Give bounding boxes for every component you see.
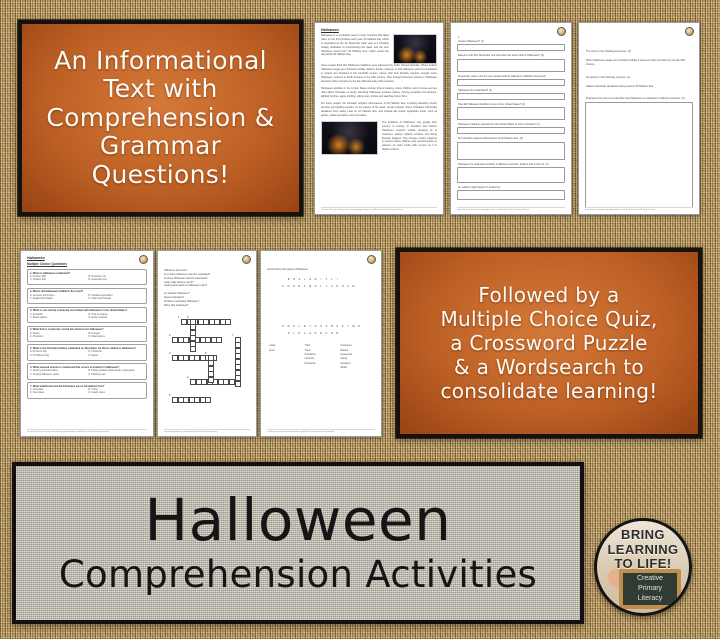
page-footer: teacherspayteachers.com/Store/Creative-P… xyxy=(164,429,250,434)
brand-logo-icon xyxy=(139,255,148,264)
quiz-question[interactable]: 6. What unusual custom is mentioned that… xyxy=(27,363,147,379)
answer-field[interactable] xyxy=(457,79,565,86)
quiz-question[interactable]: 3. What is one activity commonly associa… xyxy=(27,307,147,323)
worksheet-page-multiple-choice-quiz[interactable]: Halloween Multiple Choice Questions 1. W… xyxy=(20,250,154,437)
question-text: An custom might happen in Ireland (1) xyxy=(458,186,565,189)
quiz-option[interactable]: D. Easter festivals xyxy=(89,317,145,320)
crossword-cell[interactable] xyxy=(190,346,196,352)
headline-line-2: Text with xyxy=(103,75,217,104)
quiz-question[interactable]: 5. What is the Christian holiday celebra… xyxy=(27,344,147,360)
question-text: Halloween be celebrated similarly in dif… xyxy=(458,163,565,166)
quiz-question-text: 5. What is the Christian holiday celebra… xyxy=(30,347,144,350)
wordsearch-word: Fireworks xyxy=(305,362,338,366)
wordsearch-word-list: s-DayternsTrickTreatPumpkinsLanternsFire… xyxy=(267,344,375,370)
jack-o-lantern-photo xyxy=(321,121,378,155)
question-text: the adverb in the following sentence. (1… xyxy=(586,76,693,79)
question-text: Halloween traditions spread from the Uni… xyxy=(458,123,565,126)
quiz-question[interactable]: 4. What fruit is commonly carved into la… xyxy=(27,326,147,342)
question-text: Examples from the text to describe how H… xyxy=(586,97,693,100)
crossword-number: 2 xyxy=(169,334,170,337)
quiz-option-grid: A. Dancing around bonfiresB. Putting can… xyxy=(30,370,144,377)
quiz-option[interactable]: D. November 2nd xyxy=(89,279,145,282)
quiz-question-text: 4. What fruit is commonly carved into la… xyxy=(30,328,144,331)
paragraph: The traditions of Halloween vary greatly… xyxy=(382,121,437,152)
quiz-option[interactable]: C. Singing Halloween carols xyxy=(30,374,86,377)
answer-field[interactable] xyxy=(457,107,565,120)
followup-line-4: & a Wordsearch to xyxy=(454,355,644,379)
page-title: Halloween xyxy=(27,256,147,260)
crossword-word-down-6[interactable] xyxy=(190,319,196,352)
worksheet-page-informational-text[interactable]: Halloween Halloween is a celebration see… xyxy=(314,22,444,215)
quiz-option[interactable]: C. Soul cakes xyxy=(30,392,86,395)
crossword-grid[interactable]: 12345678 xyxy=(167,313,253,405)
question-text: Are Christian religious observances of A… xyxy=(458,137,565,140)
quiz-option[interactable]: C. All Hallows' Day xyxy=(30,355,86,358)
answer-field[interactable] xyxy=(457,93,565,100)
brand-tagline: BRING LEARNING TO LIFE! xyxy=(597,528,689,572)
followup-line-2: Multiple Choice Quiz, xyxy=(440,307,657,331)
brand-badge: BRING LEARNING TO LIFE! Creative Primary… xyxy=(594,518,692,616)
crossword-number: 8 xyxy=(205,352,206,355)
answer-field[interactable] xyxy=(457,127,565,134)
quiz-question-text: 6. What unusual custom is mentioned that… xyxy=(30,366,144,369)
crossword-number: 6 xyxy=(187,316,188,319)
wordsearch-word: Skulls xyxy=(340,366,373,370)
headline-line-3: Comprehension & xyxy=(46,104,274,133)
wordsearch-word-column: TrickTreatPumpkinsLanternsFireworks xyxy=(305,344,338,370)
crossword-number: 4 xyxy=(187,376,188,379)
crossword-word-across-4[interactable] xyxy=(190,379,240,385)
worksheet-page-grammar-questions[interactable]: The verbs in the following sentences. (3… xyxy=(578,22,700,215)
question-text: Halloween first celebrated? (1) xyxy=(458,89,565,92)
paragraph: Some people think that Halloween traditi… xyxy=(321,64,437,83)
answer-field[interactable] xyxy=(457,44,565,51)
crossword-number: 5 xyxy=(169,394,170,397)
question-text: How did Halloween traditions come to the… xyxy=(458,103,565,106)
crossword-cell[interactable] xyxy=(208,377,214,383)
followup-line-5: consolidate learning! xyxy=(440,379,657,403)
worksheet-page-comprehension-questions[interactable]: 1. Answer Halloween? (1) Based on the 31… xyxy=(450,22,572,215)
quiz-question[interactable]: 1. When is Halloween celebrated?A. Octob… xyxy=(27,269,147,285)
quiz-option[interactable]: C. Pumpkins xyxy=(30,336,86,339)
sentence-text: Italians historically abstained eating m… xyxy=(586,85,693,88)
crossword-word-across-2[interactable] xyxy=(172,337,222,343)
product-title: Halloween xyxy=(145,491,452,549)
quiz-question-text: 3. What is one activity commonly associa… xyxy=(30,309,144,312)
brand-tagline-line-2: LEARNING xyxy=(597,543,689,558)
quiz-option-grid: A. Germany and FranceB. Scotland and Ire… xyxy=(30,295,144,302)
question-text: Answer Halloween? (1) xyxy=(458,40,565,43)
answer-field[interactable] xyxy=(585,102,693,208)
paragraph: For some people, the Christian religious… xyxy=(321,102,437,118)
quiz-option[interactable]: C. Beach parties xyxy=(30,317,86,320)
quiz-option[interactable]: C. England and Wales xyxy=(30,298,86,301)
crossword-cell[interactable] xyxy=(205,397,211,403)
answer-field[interactable] xyxy=(457,190,565,200)
quiz-question-text: 1. When is Halloween celebrated? xyxy=(30,272,144,275)
wordsearch-letter-grid[interactable]: BNALGRITLI FONEFMOLLAHNAM xyxy=(275,274,367,339)
headline-line-5: Questions! xyxy=(92,161,230,190)
wordsearch-intro: words below that relate to Halloween. xyxy=(267,268,375,271)
wordsearch-word-column: CostumesPartiesGraveyardCandyCreepersSku… xyxy=(340,344,373,370)
chalkboard-line-3: Literacy xyxy=(638,594,663,604)
crossword-clue: When Day celebrated? xyxy=(164,304,250,308)
question-text: Based on the 31st November and how does … xyxy=(458,54,565,57)
quiz-question-text: 2. Where did Halloween traditions first … xyxy=(30,290,144,293)
quiz-option[interactable]: D. Watermelons xyxy=(89,336,145,339)
worksheet-page-crossword[interactable]: Halloween start from? In to where Hallow… xyxy=(157,250,257,437)
haunted-house-photo xyxy=(393,34,437,64)
quiz-option-grid: A. ChocolateB. TurkeyC. Soul cakesD. Can… xyxy=(30,389,144,396)
answer-field[interactable] xyxy=(457,142,565,160)
quiz-option[interactable]: D. Planting trees xyxy=(89,374,145,377)
worksheet-page-wordsearch[interactable]: words below that relate to Halloween. BN… xyxy=(260,250,382,437)
quiz-option-grid: A. ApplesB. OrangesC. PumpkinsD. Waterme… xyxy=(30,333,144,340)
brand-logo-icon xyxy=(242,255,251,264)
page-footer: ic Stores www.teacherspayteachers.com/St… xyxy=(267,429,375,434)
wordsearch-letter[interactable] xyxy=(362,336,367,340)
quiz-question[interactable]: 7. What traditional food did Christians … xyxy=(27,382,147,398)
brand-logo-icon xyxy=(367,255,376,264)
paragraph: Halloween activities in the United State… xyxy=(321,87,437,99)
brand-tagline-line-1: BRING xyxy=(597,528,689,543)
quiz-option-grid: A. FireworksB. Trick-or-treatingC. Beach… xyxy=(30,314,144,321)
quiz-question-list: 1. When is Halloween celebrated?A. Octob… xyxy=(27,269,147,399)
followup-line-3: a Crossword Puzzle xyxy=(450,331,648,355)
page-footer: Creative Primary Literacy www.teacherspa… xyxy=(27,429,147,434)
quiz-question-text: 7. What traditional food did Christians … xyxy=(30,385,144,388)
headline-line-1: An Informational xyxy=(54,47,267,76)
answer-field[interactable] xyxy=(457,167,565,183)
paragraph: Halloween is a celebration seen in many … xyxy=(321,34,389,57)
question-text: Frequently, where else do some people be… xyxy=(458,75,565,78)
page-footer: Creative Primary Literacy www.teacherspa… xyxy=(321,207,437,212)
question-text: The verbs in the following sentences. (3… xyxy=(586,50,693,53)
page-subtitle: Multiple Choice Questions xyxy=(27,262,147,266)
crossword-number: 1 xyxy=(178,316,179,319)
quiz-option[interactable]: D. Easter xyxy=(89,355,145,358)
crossword-word-down-7[interactable] xyxy=(235,337,241,387)
wordsearch-word: terns xyxy=(269,349,302,353)
crossword-number: 3 xyxy=(169,352,170,355)
page-title: Halloween xyxy=(321,28,437,32)
quiz-question[interactable]: 2. Where did Halloween traditions first … xyxy=(27,288,147,304)
quiz-option[interactable]: D. Candy canes xyxy=(89,392,145,395)
crossword-word-across-1[interactable] xyxy=(181,319,231,325)
chalkboard-line-2: Primary xyxy=(638,584,662,594)
wordsearch-word-column: s-Dayterns xyxy=(269,344,302,370)
chalkboard-line-1: Creative xyxy=(637,574,663,584)
followup-panel: Followed by a Multiple Choice Quiz, a Cr… xyxy=(396,248,702,438)
question-number: 1. xyxy=(458,36,565,39)
quiz-option-grid: A. October 30thB. November 1stC. October… xyxy=(30,276,144,283)
chalkboard-icon: Creative Primary Literacy xyxy=(619,569,681,609)
crossword-number: 7 xyxy=(232,334,233,337)
crossword-word-down-8[interactable] xyxy=(208,355,214,383)
answer-field[interactable] xyxy=(457,59,565,72)
crossword-cell[interactable] xyxy=(235,381,241,387)
product-subtitle: Comprehension Activities xyxy=(59,555,537,596)
quiz-option-grid: A. All Souls' DayB. ChristmasC. All Hall… xyxy=(30,351,144,358)
quiz-option[interactable]: D. Spain and Portugal xyxy=(89,298,145,301)
page-footer: http://teachers.www.teacherspayteachers.… xyxy=(457,207,565,212)
sentence-text: When Halloween began as a Christian holi… xyxy=(586,59,693,68)
crossword-cell[interactable] xyxy=(225,319,231,325)
brand-logo-icon xyxy=(685,27,694,36)
headline-line-4: Grammar xyxy=(100,132,221,161)
page-footer: www.literacy.www.teacherspayteachers.com… xyxy=(585,207,693,212)
followup-line-1: Followed by a xyxy=(478,283,619,307)
title-banner: Halloween Comprehension Activities xyxy=(12,462,584,624)
headline-panel: An Informational Text with Comprehension… xyxy=(18,20,303,216)
brand-logo-icon xyxy=(557,27,566,36)
quiz-option[interactable]: C. October 31st xyxy=(30,279,86,282)
crossword-word-across-5[interactable] xyxy=(172,397,211,403)
crossword-cell[interactable] xyxy=(216,337,222,343)
